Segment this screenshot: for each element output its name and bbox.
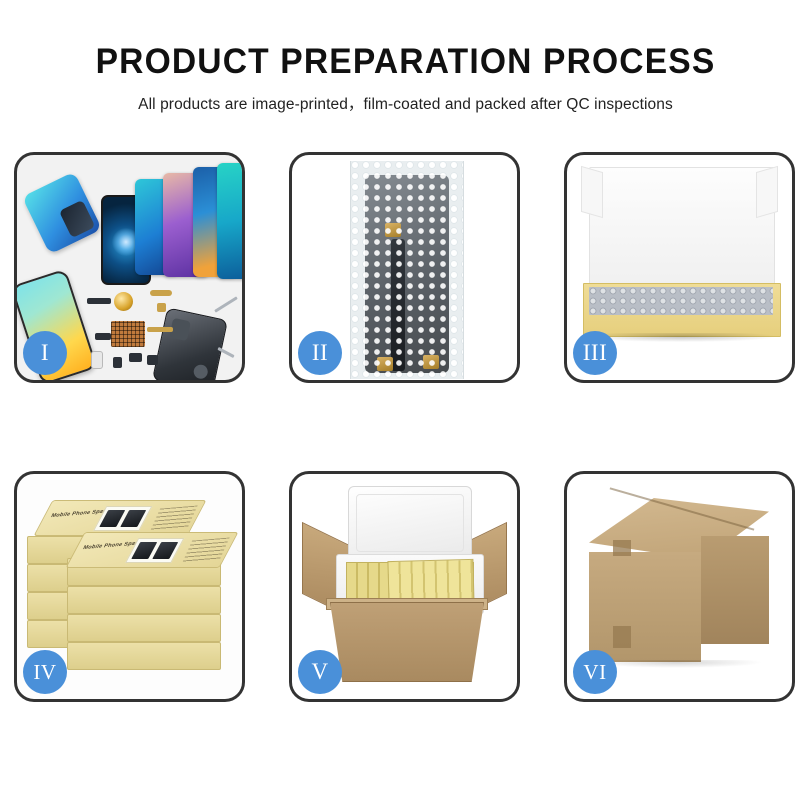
phone-back-housing: [152, 307, 228, 380]
step-badge-3: III: [573, 331, 617, 375]
wrapped-connector-top: [385, 223, 401, 237]
wrapped-screen-assembly: [365, 175, 449, 373]
wrapped-flex-cable: [391, 239, 405, 371]
screen-protector-film: [22, 172, 102, 255]
step-badge-5: V: [298, 650, 342, 694]
stacked-box-front-4: [67, 642, 221, 670]
sim-tray-part: [91, 351, 103, 369]
stacked-box-front-2: [67, 586, 221, 614]
camera-module-part: [129, 353, 142, 362]
product-preparation-infographic: PRODUCT PREPARATION PROCESS All products…: [0, 0, 811, 811]
retail-box-lid-top: Mobile Phone Spare Parts: [33, 500, 206, 536]
flex-cable-part-2: [147, 327, 173, 332]
foam-cooler-lid: [348, 486, 472, 560]
small-chip-part: [95, 333, 111, 340]
button-part: [113, 357, 122, 368]
header: PRODUCT PREPARATION PROCESS All products…: [0, 0, 811, 114]
earpiece-speaker-part: [87, 298, 111, 304]
carton-tape-lower: [613, 626, 631, 648]
gold-component: [114, 292, 133, 311]
wrapped-connector-left: [377, 357, 393, 371]
step-badge-6: VI: [573, 650, 617, 694]
carton-tape-upper: [613, 540, 631, 556]
process-step-grid: I II: [14, 152, 797, 702]
page-title: PRODUCT PREPARATION PROCESS: [16, 44, 795, 79]
step-panel-1[interactable]: I: [14, 152, 245, 383]
box-flap-left: [581, 166, 603, 218]
vibrator-part: [147, 355, 158, 365]
carton-shadow: [591, 660, 763, 668]
box-shadow: [587, 333, 775, 342]
stacked-box-front-3: [67, 614, 221, 642]
step-panel-4[interactable]: Mobile Phone Spare Parts Mobile Phone Sp…: [14, 471, 245, 702]
connector-part: [157, 303, 166, 312]
box-spec-lines-top: [150, 505, 197, 530]
wrapped-connector-right: [423, 355, 439, 369]
step-badge-1: I: [23, 331, 67, 375]
step-panel-5[interactable]: V: [289, 471, 520, 702]
carton-side-face: [701, 536, 769, 644]
step-panel-2[interactable]: II: [289, 152, 520, 383]
phone-screen-teal: [217, 163, 242, 279]
step-badge-2: II: [298, 331, 342, 375]
box-spec-lines-second: [182, 537, 229, 562]
bubble-wrap-sleeve: [350, 161, 464, 379]
bubble-wrapped-contents: [589, 287, 773, 315]
retail-box-lid-second: Mobile Phone Spare Parts: [65, 532, 238, 568]
carton-body: [330, 602, 484, 682]
carton-front-face: [589, 552, 701, 662]
copper-mesh-part: [111, 321, 145, 347]
page-subtitle: All products are image-printed，film-coat…: [0, 92, 811, 114]
step-panel-3[interactable]: III: [564, 152, 795, 383]
box-lid-open: [589, 167, 775, 297]
step-panel-6[interactable]: VI: [564, 471, 795, 702]
box-flap-right: [756, 166, 778, 218]
flex-cable-part: [150, 290, 172, 296]
tweezer-tool: [214, 296, 238, 312]
step-badge-4: IV: [23, 650, 67, 694]
